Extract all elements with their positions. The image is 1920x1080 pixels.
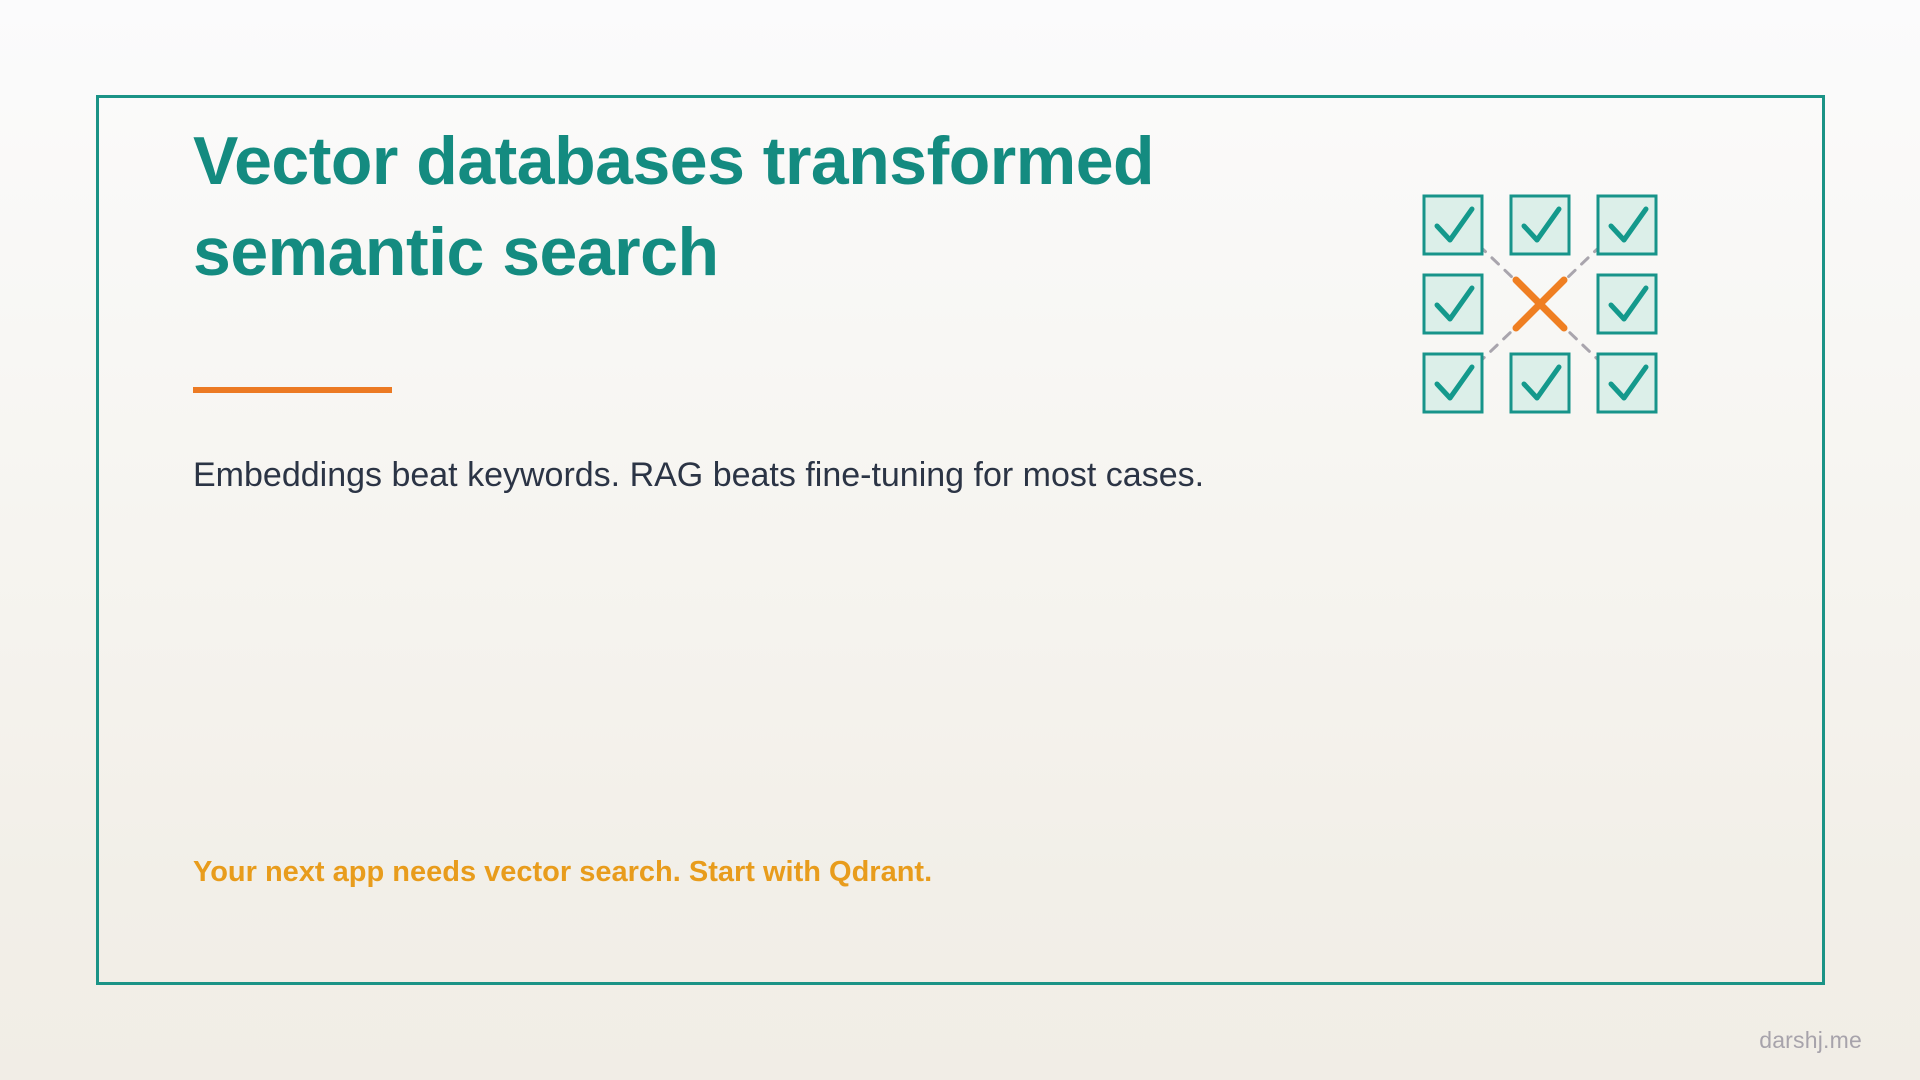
checkbox-cell-r1c3 [1598,196,1656,254]
rejected-cell-x-icon [1516,280,1564,328]
checkbox-cell-r2c1 [1424,275,1482,333]
checkbox-cell-r1c2 [1511,196,1569,254]
page-title: Vector databases transformed semantic se… [193,116,1443,298]
checkbox-cell-r3c3 [1598,354,1656,412]
slide-subtitle: Embeddings beat keywords. RAG beats fine… [193,452,1593,498]
checkbox-grid-illustration [1420,192,1660,416]
checkbox-cell-r1c1 [1424,196,1482,254]
checkbox-cell-r3c1 [1424,354,1482,412]
checkbox-cell-r2c3 [1598,275,1656,333]
watermark: darshj.me [1759,1027,1862,1054]
call-to-action-text: Your next app needs vector search. Start… [193,852,1593,892]
accent-divider [193,387,392,393]
checkbox-cell-r3c2 [1511,354,1569,412]
